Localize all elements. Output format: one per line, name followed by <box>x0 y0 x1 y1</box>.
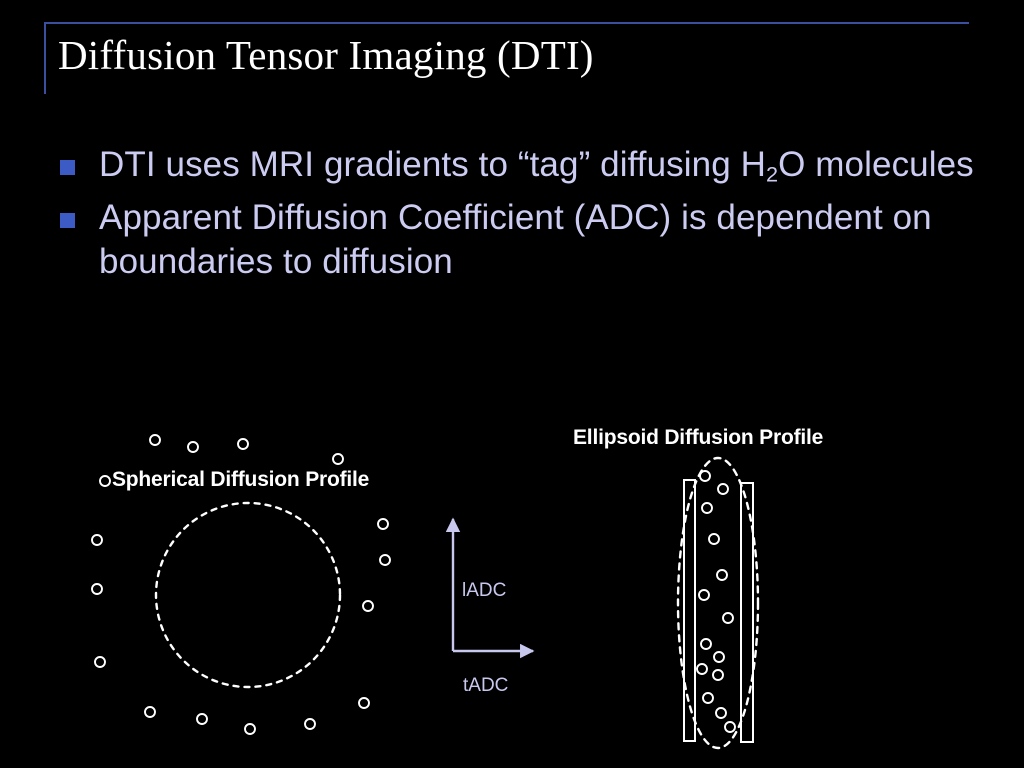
water-molecule-marker <box>723 613 733 623</box>
page-title: Diffusion Tensor Imaging (DTI) <box>58 32 958 79</box>
bullet-item-1-text-before: DTI uses MRI gradients to “tag” diffusin… <box>99 145 766 184</box>
water-molecule-marker <box>702 503 712 513</box>
ellipsoid-profile-caption: Ellipsoid Diffusion Profile <box>573 426 823 450</box>
bullet-item-1-text: DTI uses MRI gradients to “tag” diffusin… <box>99 143 980 188</box>
water-molecule-marker <box>700 471 710 481</box>
water-molecule-marker <box>92 584 102 594</box>
water-molecule-marker <box>197 714 207 724</box>
water-molecule-marker <box>701 639 711 649</box>
bullet-item-1: DTI uses MRI gradients to “tag” diffusin… <box>60 143 980 188</box>
water-molecule-marker <box>716 708 726 718</box>
title-rule-left <box>44 22 46 94</box>
water-molecule-marker <box>717 570 727 580</box>
water-molecule-marker <box>95 657 105 667</box>
ellipsoid-diffusion-group <box>678 458 758 748</box>
spherical-boundary-dashed-circle <box>156 503 340 687</box>
figure-area: Spherical Diffusion Profile Ellipsoid Di… <box>0 400 1024 768</box>
title-rule-top <box>44 22 969 24</box>
axis-label-longitudinal-adc: lADC <box>462 580 506 602</box>
water-molecule-marker <box>709 534 719 544</box>
bullet-item-2-text-before: Apparent Diffusion Coefficient (ADC) is … <box>99 198 932 281</box>
water-molecule-marker <box>359 698 369 708</box>
water-molecule-marker <box>718 484 728 494</box>
bullet-marker-icon <box>60 160 75 175</box>
water-molecule-marker <box>699 590 709 600</box>
bullet-list: DTI uses MRI gradients to “tag” diffusin… <box>60 143 980 291</box>
water-molecule-marker <box>238 439 248 449</box>
water-molecule-marker <box>378 519 388 529</box>
water-molecule-marker <box>713 670 723 680</box>
bullet-item-1-text-after: O molecules <box>778 145 974 184</box>
bullet-item-2-text: Apparent Diffusion Coefficient (ADC) is … <box>99 196 980 284</box>
bullet-marker-icon <box>60 213 75 228</box>
water-molecule-marker <box>92 535 102 545</box>
axis-label-transverse-adc: tADC <box>463 675 508 697</box>
water-molecule-marker <box>245 724 255 734</box>
bullet-item-1-subscript: 2 <box>766 162 778 187</box>
diffusion-profile-figure <box>0 400 1024 768</box>
water-molecule-marker <box>703 693 713 703</box>
water-molecule-marker <box>697 664 707 674</box>
ellipsoid-boundary-dashed-ellipse <box>678 458 758 748</box>
water-molecule-marker <box>380 555 390 565</box>
water-molecule-marker <box>305 719 315 729</box>
water-molecule-marker <box>100 476 110 486</box>
bullet-item-2: Apparent Diffusion Coefficient (ADC) is … <box>60 196 980 284</box>
water-molecule-marker <box>150 435 160 445</box>
water-molecule-marker <box>725 722 735 732</box>
water-molecule-marker <box>714 652 724 662</box>
water-molecule-marker <box>145 707 155 717</box>
water-molecule-marker <box>333 454 343 464</box>
water-molecule-marker <box>188 442 198 452</box>
slide-canvas: Diffusion Tensor Imaging (DTI) DTI uses … <box>0 0 1024 768</box>
spherical-profile-caption: Spherical Diffusion Profile <box>112 468 369 492</box>
water-molecule-marker <box>363 601 373 611</box>
